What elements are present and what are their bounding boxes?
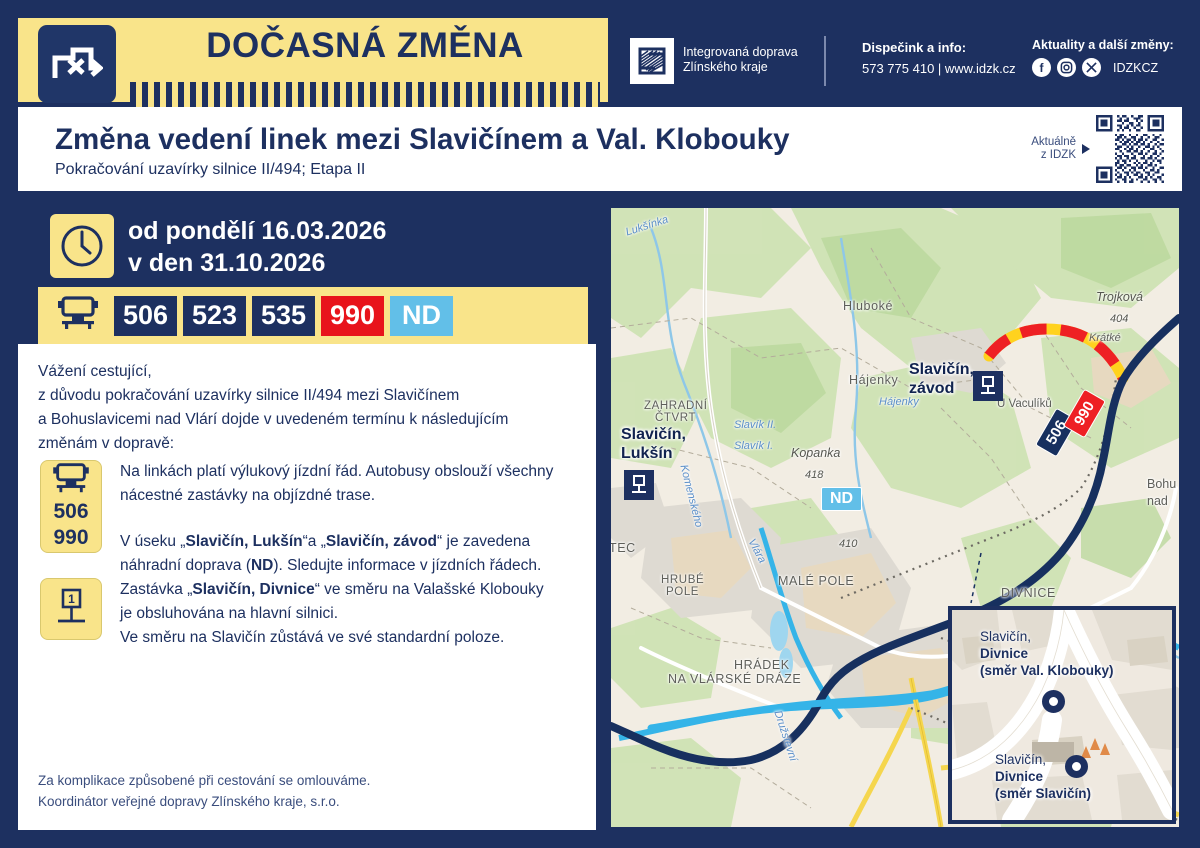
page-title: Změna vedení linek mezi Slavičínem a Val… [55, 123, 790, 157]
note1-nd-abbrev: ND [251, 557, 273, 574]
inset-stop-marker-b[interactable] [1065, 755, 1088, 778]
footer-note: Za komplikace způsobené při cestování se… [38, 770, 370, 812]
map-stop-flag-zavod[interactable] [973, 371, 1003, 401]
note2-pre: Zastávka „ [120, 581, 192, 598]
bus-stop-icon: 1 [51, 586, 91, 633]
note-bus-stop: 1 Zastávka „Slavičín, Divnice“ ve směru … [40, 578, 590, 650]
news-info: Aktuality a další změny: f IDZKCZ [1032, 38, 1174, 77]
clock-icon [50, 214, 114, 278]
inset-stop-b-line2: Divnice [995, 769, 1043, 784]
map-stop-zavod-line2: závod [909, 379, 974, 398]
qr-caption-line2: z IDZK [1031, 149, 1076, 163]
poster-root: DOČASNÁ ZMĚNA Integrovaná doprava Zlínsk… [0, 0, 1200, 848]
intro-line-1: Vážení cestující, [38, 360, 508, 384]
social-row: f IDZKCZ [1032, 58, 1174, 77]
bus-icon [56, 295, 100, 336]
map-label-kratke: Krátké [1089, 332, 1121, 344]
map-label-na-vlarske-draze: NA VLÁRSKÉ DRÁZE [668, 672, 801, 686]
hatch-stripes [130, 82, 600, 107]
inset-stop-b-line3: (směr Slavičín) [995, 786, 1091, 801]
map-label-bohu: Bohu [1147, 477, 1176, 491]
instagram-icon[interactable] [1057, 58, 1076, 77]
inset-stop-a-line1: Slavičín, [980, 628, 1114, 645]
idzk-logo-icon [630, 38, 674, 84]
inset-stop-a-line2: Divnice [980, 646, 1028, 661]
intro-text: Vážení cestující, z důvodu pokračování u… [38, 360, 508, 456]
map-label-pole: POLE [666, 586, 699, 598]
operator-name: Integrovaná doprava Zlínského kraje [683, 45, 798, 75]
note1-p2-line2: náhradní doprava (ND). Sledujte informac… [120, 554, 580, 578]
validity-band: od pondělí 16.03.2026 v den 31.10.2026 [38, 205, 588, 287]
qr-arrow-icon [1082, 144, 1090, 154]
validity-from: od pondělí 16.03.2026 [128, 215, 386, 247]
map-label-elev-418: 418 [805, 469, 823, 481]
note2-stop-divnice: Slavičín, Divnice [192, 581, 314, 598]
map-stop-luksin-line1: Slavičín, [621, 425, 686, 444]
line-badge-nd: ND [390, 296, 453, 336]
bus-icon [51, 462, 91, 499]
map-label-u-vaculiku: U Vaculíků [997, 398, 1052, 410]
note1-p2-line1: V úseku „Slavičín, Lukšín“a „Slavičín, z… [120, 530, 580, 554]
dispatch-title: Dispečink a info: [862, 40, 1016, 55]
map-nd-badge: ND [821, 487, 862, 511]
map-stop-label-zavod: Slavičín, závod [909, 360, 974, 398]
note1-text: Na linkách platí výlukový jízdní řád. Au… [120, 460, 580, 578]
note1-p2-l2-post: ). Sledujte informace v jízdních řádech. [273, 557, 541, 574]
qr-caption-line1: Aktuálně [1031, 136, 1076, 150]
note1-p2-pre: V úseku „ [120, 533, 185, 550]
svg-text:1: 1 [68, 592, 75, 606]
map-label-hajenky-1: Hájenky [849, 373, 898, 387]
detour-map[interactable]: Hluboké Hájenky Hájenky ZAHRADNÍ ČTVRT S… [608, 205, 1182, 830]
note1-stop-zavod: Slavičín, závod [326, 533, 437, 550]
validity-to: v den 31.10.2026 [128, 247, 386, 279]
map-label-hrube: HRUBÉ [661, 574, 704, 586]
map-stop-flag-luksin[interactable] [624, 470, 654, 500]
dispatch-contact[interactable]: 573 775 410 | www.idzk.cz [862, 61, 1016, 76]
note2-icon-box: 1 [40, 578, 102, 640]
note2-line3: Ve směru na Slavičín zůstává ve své stan… [120, 626, 590, 650]
x-twitter-icon[interactable] [1082, 58, 1101, 77]
note1-stop-luksin: Slavičín, Lukšín [185, 533, 302, 550]
map-label-zahradni: ZAHRADNÍ [644, 400, 708, 412]
note1-p2-mid: “a „ [303, 533, 326, 550]
map-label-nad: nad [1147, 494, 1168, 508]
line-badge-535: 535 [252, 296, 315, 336]
note1-line-990: 990 [53, 525, 88, 551]
inset-map-divnice[interactable]: Slavičín, Divnice (směr Val. Klobouky) S… [948, 606, 1176, 824]
operator-name-line2: Zlínského kraje [683, 60, 798, 75]
line-badge-506: 506 [114, 296, 177, 336]
map-label-tec: TEC [609, 541, 636, 555]
map-stop-zavod-line1: Slavičín, [909, 360, 974, 379]
map-label-trojkova: Trojková [1096, 290, 1143, 304]
detour-icon [38, 25, 116, 103]
qr-block[interactable]: Aktuálně z IDZK [1031, 115, 1164, 183]
map-label-male-pole: MALÉ POLE [778, 574, 854, 588]
map-stop-label-luksin: Slavičín, Lukšín [621, 425, 686, 463]
map-label-elev-410: 410 [839, 538, 857, 550]
map-stop-luksin-line2: Lukšín [621, 444, 686, 463]
intro-line-2: z důvodu pokračování uzavírky silnice II… [38, 384, 508, 408]
map-label-slavik-1: Slavík I. [734, 440, 773, 452]
note-bus-lines: 506 990 Na linkách platí výlukový jízdní… [40, 460, 580, 578]
note1-p2-post: “ je zavedena [437, 533, 530, 550]
banner-title: DOČASNÁ ZMĚNA [130, 26, 600, 66]
lines-band: 506 523 535 990 ND [38, 287, 588, 344]
inset-stop-a-line3: (směr Val. Klobouky) [980, 663, 1114, 678]
qr-code-icon[interactable] [1096, 115, 1164, 183]
dispatch-info: Dispečink a info: 573 775 410 | www.idzk… [862, 40, 1016, 76]
map-label-slavik-2: Slavík II. [734, 419, 776, 431]
qr-caption: Aktuálně z IDZK [1031, 136, 1076, 163]
operator-name-line1: Integrovaná doprava [683, 45, 798, 60]
map-label-hradek: HRÁDEK [734, 658, 790, 672]
line-badge-990: 990 [321, 296, 384, 336]
header-divider [824, 36, 826, 86]
title-strip: Změna vedení linek mezi Slavičínem a Val… [18, 107, 1182, 191]
social-handle: IDZKCZ [1113, 61, 1158, 75]
footer-line-1: Za komplikace způsobené při cestování se… [38, 770, 370, 791]
map-label-ctvrt: ČTVRT [655, 412, 696, 424]
note1-p2-l2-pre: náhradní doprava ( [120, 557, 251, 574]
footer-line-2: Koordinátor veřejné dopravy Zlínského kr… [38, 791, 370, 812]
map-label-divnice: DIVNICE [1001, 586, 1056, 600]
line-badge-523: 523 [183, 296, 246, 336]
intro-line-3: a Bohuslavicemi nad Vlárí dojde v uveden… [38, 408, 508, 432]
validity-dates: od pondělí 16.03.2026 v den 31.10.2026 [128, 215, 386, 279]
note1-p1-line1: Na linkách platí výlukový jízdní řád. Au… [120, 460, 580, 484]
map-label-elev-404: 404 [1110, 313, 1128, 325]
info-panel: Vážení cestující, z důvodu pokračování u… [18, 344, 596, 830]
inset-stop-label-a: Slavičín, Divnice (směr Val. Klobouky) [980, 628, 1114, 679]
note1-p1-line2: nácestné zastávky na objízdné trase. [120, 484, 580, 508]
news-title: Aktuality a další změny: [1032, 38, 1174, 52]
page-subtitle: Pokračování uzavírky silnice II/494; Eta… [55, 161, 365, 179]
note2-text: Zastávka „Slavičín, Divnice“ ve směru na… [120, 578, 590, 650]
note2-line2: je obsluhována na hlavní silnici. [120, 602, 590, 626]
note2-line1: Zastávka „Slavičín, Divnice“ ve směru na… [120, 578, 590, 602]
note1-icon-box: 506 990 [40, 460, 102, 553]
map-label-hluboke: Hluboké [843, 299, 893, 313]
note1-line-506: 506 [53, 499, 88, 525]
note2-post: “ ve směru na Valašské Klobouky [315, 581, 544, 598]
note1-line-numbers: 506 990 [53, 499, 88, 551]
map-label-kopanka: Kopanka [791, 446, 840, 460]
facebook-icon[interactable]: f [1032, 58, 1051, 77]
intro-line-4: změnám v dopravě: [38, 432, 508, 456]
inset-stop-marker-a[interactable] [1042, 690, 1065, 713]
